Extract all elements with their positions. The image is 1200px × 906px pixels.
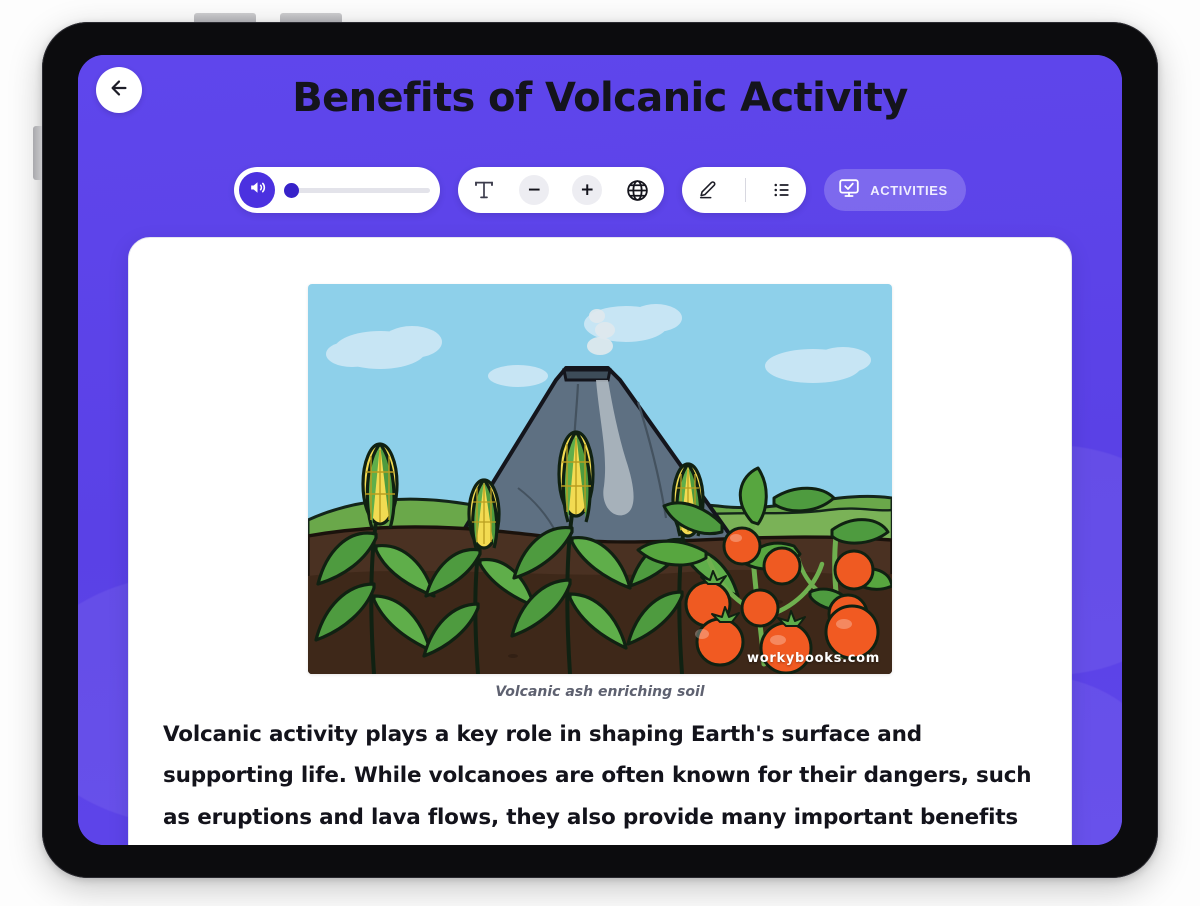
illustration-caption: Volcanic ash enriching soil: [129, 684, 1071, 700]
volume-slider-track: [292, 188, 430, 193]
tablet-device-frame: Benefits of Volcanic Activity: [42, 22, 1158, 878]
list-view-icon[interactable]: [772, 180, 792, 200]
annotation-tools-group: [682, 167, 806, 213]
reader-toolbar: − +: [78, 167, 1122, 213]
activities-label: ACTIVITIES: [870, 183, 948, 198]
volume-slider[interactable]: [284, 180, 430, 200]
increase-text-size-button[interactable]: +: [572, 175, 602, 205]
text-format-icon[interactable]: [472, 178, 496, 202]
speaker-volume-icon: [248, 178, 267, 202]
volume-down-hardware-button[interactable]: [280, 13, 342, 22]
monitor-check-icon: [837, 176, 861, 205]
pencil-edit-icon[interactable]: [696, 179, 718, 201]
page-root: Benefits of Volcanic Activity: [0, 0, 1200, 906]
power-hardware-button[interactable]: [33, 126, 42, 180]
tablet-screen: Benefits of Volcanic Activity: [78, 55, 1122, 845]
illustration-container: workybooks.com: [129, 238, 1071, 674]
decrease-text-size-button[interactable]: −: [519, 175, 549, 205]
tools-divider: [745, 178, 746, 202]
volume-up-hardware-button[interactable]: [194, 13, 256, 22]
lesson-content-card: workybooks.com Volcanic ash enriching so…: [128, 237, 1072, 845]
volume-slider-thumb[interactable]: [284, 183, 299, 198]
lesson-paragraph: Volcanic activity plays a key role in sh…: [163, 714, 1037, 845]
image-watermark: workybooks.com: [747, 651, 880, 666]
text-size-control-group: − +: [458, 167, 664, 213]
page-title: Benefits of Volcanic Activity: [78, 75, 1122, 121]
speaker-play-button[interactable]: [239, 172, 275, 208]
globe-language-icon[interactable]: [625, 178, 650, 203]
audio-control-group: [234, 167, 440, 213]
volcano-farm-illustration-svg: [308, 284, 892, 674]
app-header: Benefits of Volcanic Activity: [78, 55, 1122, 159]
lesson-illustration: workybooks.com: [308, 284, 892, 674]
activities-button[interactable]: ACTIVITIES: [824, 169, 966, 211]
